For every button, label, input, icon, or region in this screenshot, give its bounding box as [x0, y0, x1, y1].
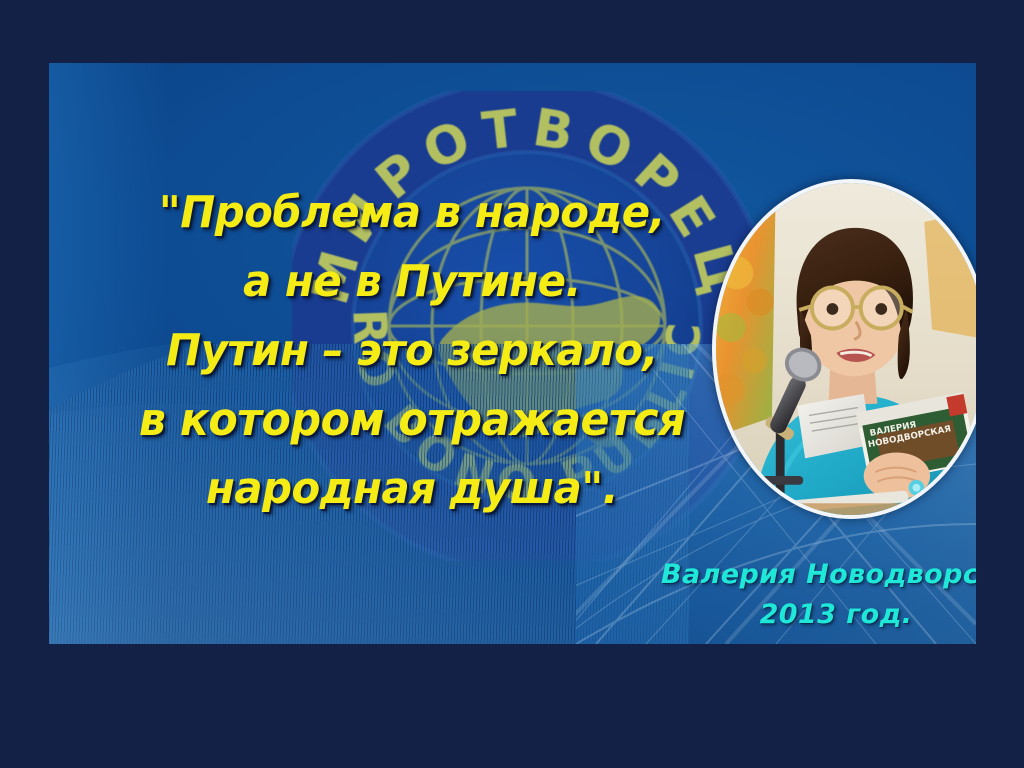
quote-line-1: "Проблема в народе, [122, 178, 702, 247]
slide-frame: МИРОТВОРЕЦ PRO BONO PUBLICO [0, 0, 1024, 768]
quote-line-5: народная душа". [122, 454, 702, 523]
valeria-novodvorskaya-photo: ВАЛЕРИЯ НОВОДВОРСКАЯ [712, 179, 976, 519]
attribution-name: Валерия Новодворская. [661, 555, 976, 595]
quote-line-3: Путин – это зеркало, [122, 316, 702, 385]
quote-text-block: "Проблема в народе, а не в Путине. Путин… [107, 178, 717, 523]
quote-line-4: в котором отражается [122, 385, 702, 454]
attribution-year: 2013 год. [661, 595, 976, 635]
quote-line-2: а не в Путине. [122, 247, 702, 316]
slide-content-panel: МИРОТВОРЕЦ PRO BONO PUBLICO [49, 63, 976, 644]
attribution-block: Валерия Новодворская. 2013 год. [661, 555, 976, 635]
